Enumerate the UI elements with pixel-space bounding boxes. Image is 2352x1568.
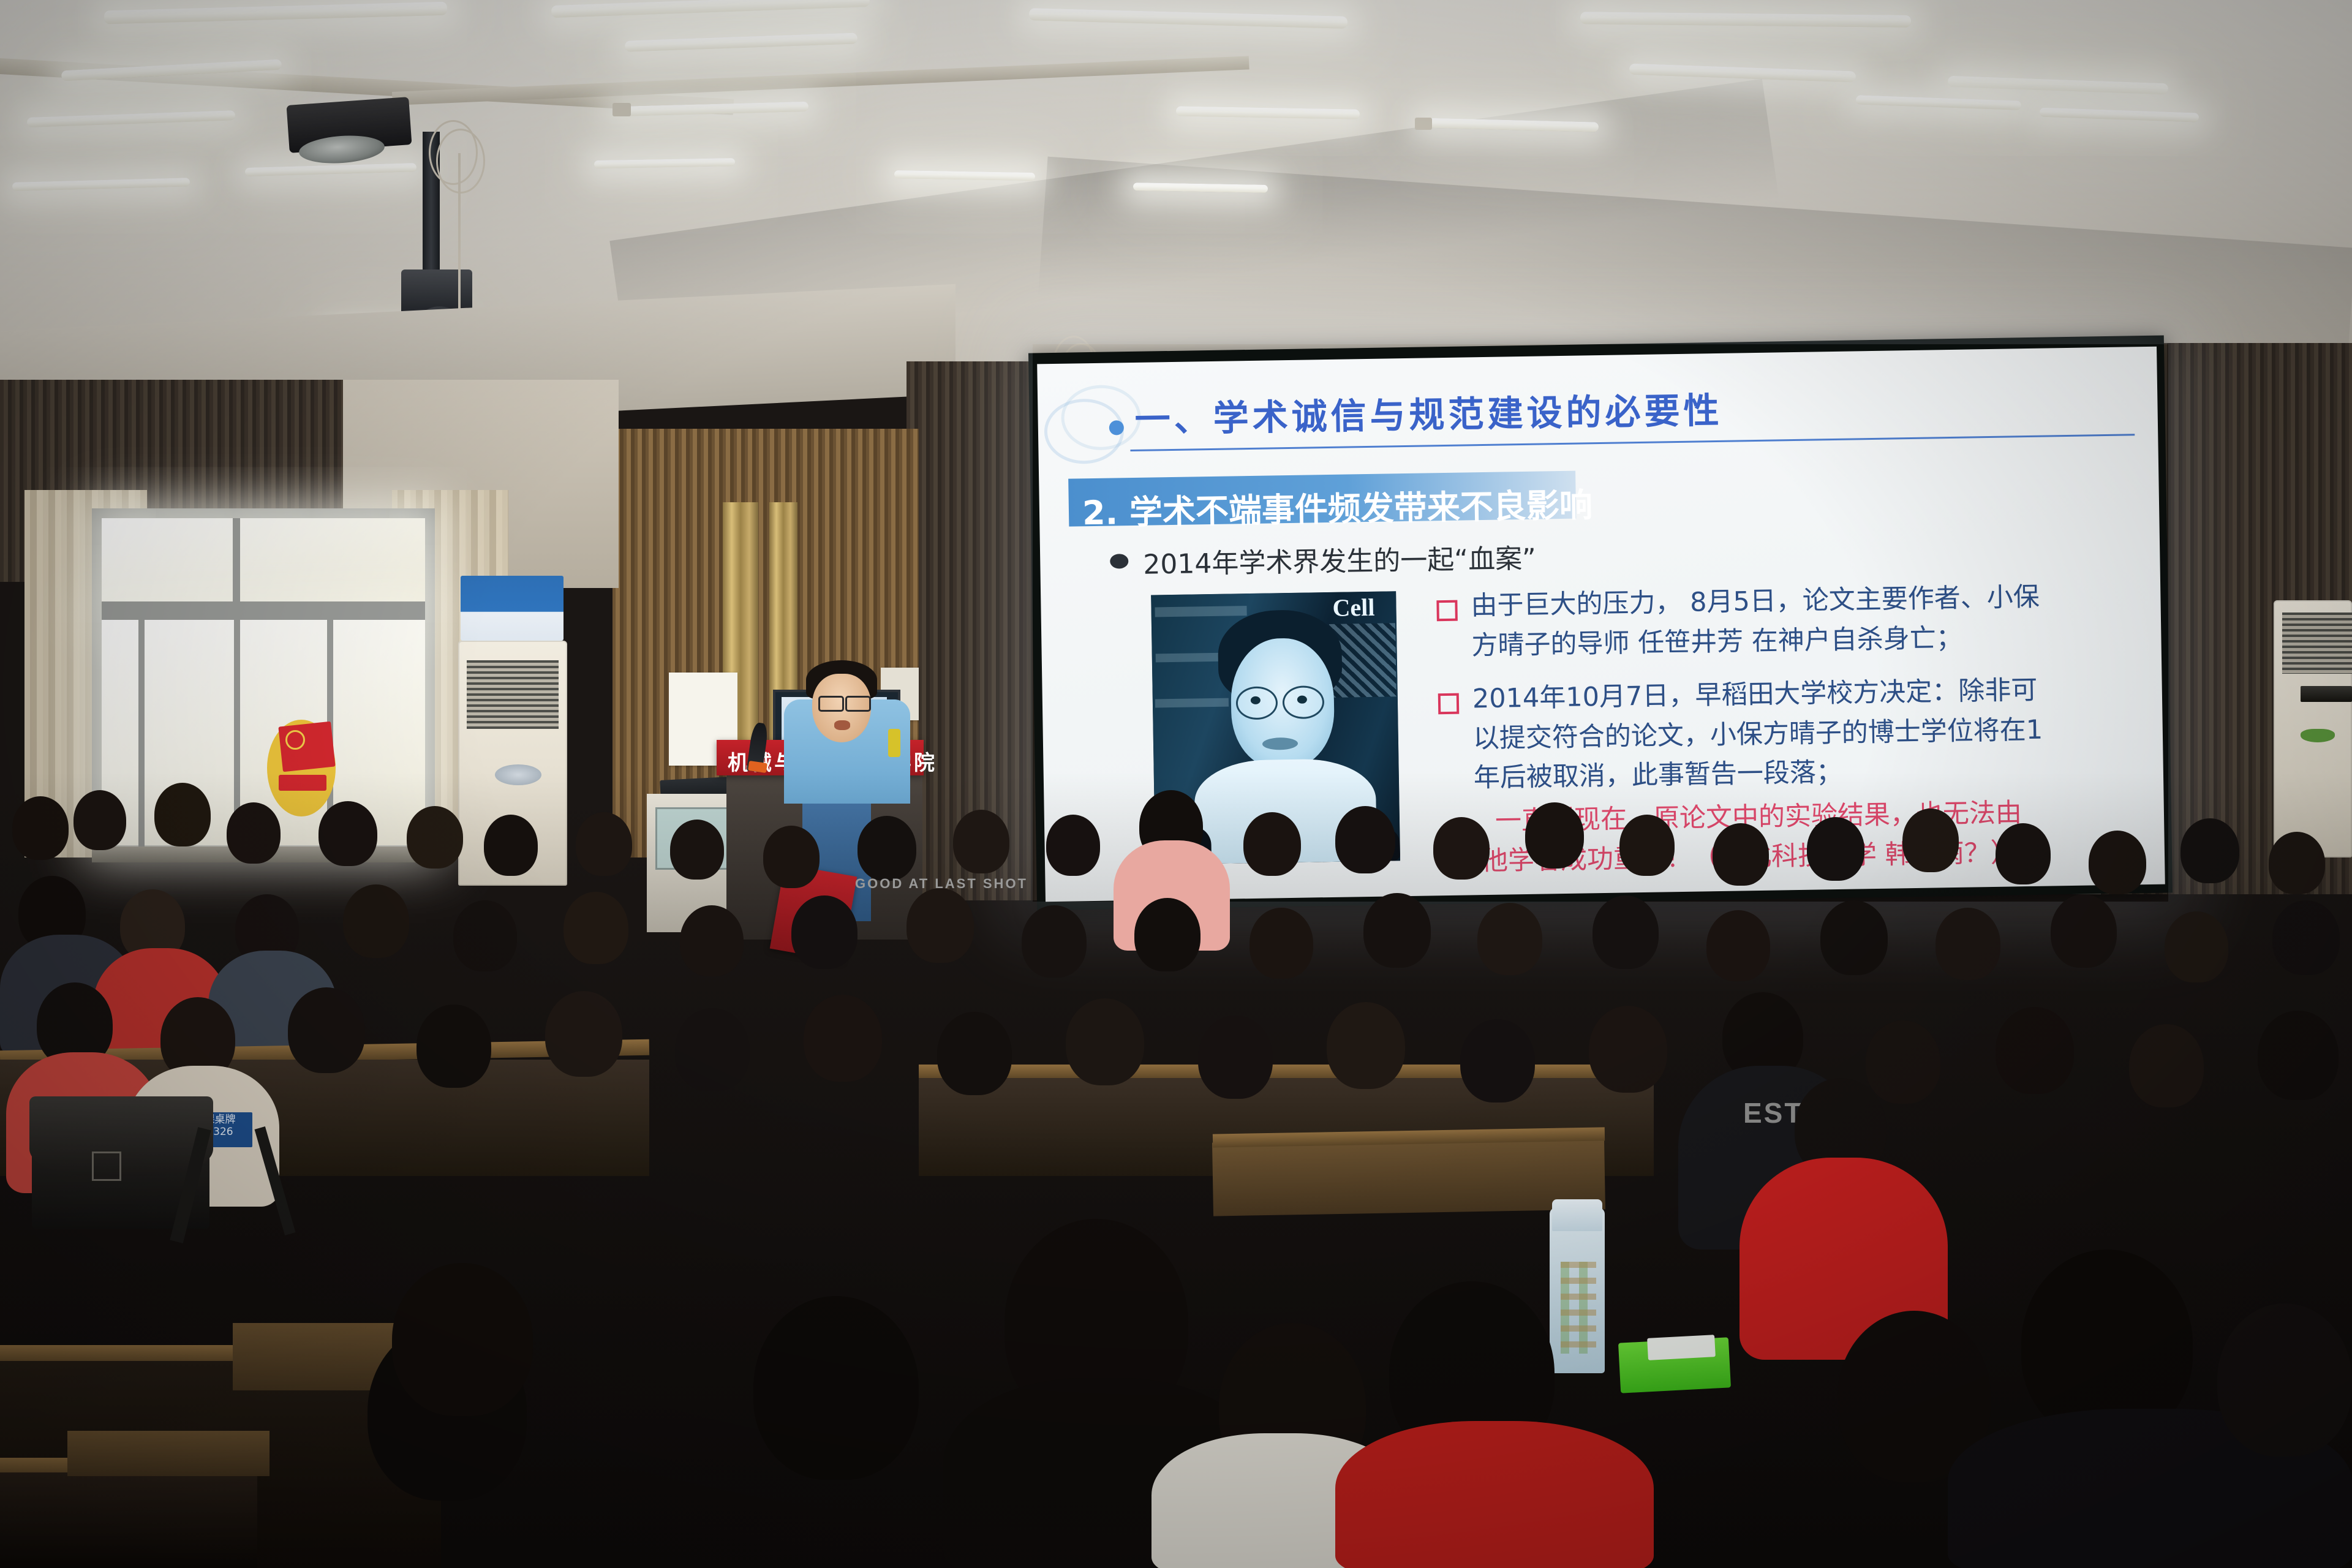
audience-head (1046, 815, 1100, 876)
bag-logo (92, 1151, 121, 1181)
audience-head (1902, 809, 1959, 872)
audience-head (953, 810, 1009, 873)
audience-head (484, 815, 538, 876)
audience-head (1807, 817, 1864, 881)
photo-shelf (1155, 698, 1229, 708)
photo-shelf (1155, 606, 1246, 617)
audience-head (73, 790, 126, 850)
audience-head (1363, 893, 1431, 968)
bag-flap (29, 1096, 213, 1176)
red-square-marker (1438, 693, 1460, 715)
audience-head-foreground (2217, 1303, 2352, 1457)
window-pane (102, 518, 425, 604)
audience-head (288, 987, 365, 1073)
audience-head (2129, 1024, 2204, 1107)
audience-head (675, 1008, 750, 1091)
emblem-star-icon (285, 730, 305, 750)
lecture-hall-photo: 一、学术诚信与规范建设的必要性 2. 学术不端事件频发带来不良影响 2014年学… (0, 0, 2352, 1568)
slide-bullet-text: 2014年学术界发生的一起“血案” (1143, 537, 1537, 582)
audience-head (1327, 1002, 1405, 1089)
audience-head (1243, 812, 1301, 876)
desk (0, 1472, 257, 1568)
speaker-glasses (818, 696, 844, 712)
audience-head (1713, 823, 1769, 886)
audience-head (670, 820, 724, 880)
audience-head (1996, 823, 2051, 884)
audience-head (804, 995, 882, 1082)
tube-mount (612, 103, 631, 116)
audience-head (1249, 908, 1313, 979)
photo-logo-text: Cell (1332, 593, 1375, 622)
audience-head (1022, 905, 1087, 978)
audience-head (2258, 1011, 2339, 1100)
speaker-mouth (834, 720, 850, 730)
window-transom (102, 601, 425, 620)
audience-head (154, 783, 211, 846)
audience-head (763, 826, 820, 888)
cardboard-box (461, 576, 563, 641)
audience-head (907, 888, 974, 963)
audience-head (937, 1012, 1012, 1095)
slide-decoration-ring (1061, 385, 1142, 451)
audience-head (2269, 832, 2325, 894)
audience-head-foreground (392, 1263, 533, 1416)
tissue-paper (1647, 1335, 1716, 1360)
speaker-badge (888, 729, 900, 757)
audience-body-red-foreground (1335, 1421, 1654, 1568)
audience-head (2089, 831, 2146, 894)
audience-head (1066, 998, 1144, 1085)
slide-point-1: 由于巨大的压力， 8月5日，论文主要作者、小保 方晴子的导师 任笹井芳 在神户自… (1471, 576, 2133, 665)
audience-head (1477, 903, 1542, 975)
audience-head (1866, 1020, 1940, 1104)
desk-top-wood (1212, 1136, 1605, 1216)
audience-head (1589, 1006, 1667, 1093)
audience-head (2051, 894, 2117, 968)
cable-coil (436, 129, 485, 194)
audience-head (2272, 900, 2340, 975)
audience-head (12, 796, 69, 860)
thermos-cap (1552, 1199, 1602, 1231)
audience-head (2165, 911, 2228, 982)
audience-head (2180, 818, 2239, 883)
audience-head (1134, 898, 1200, 971)
slide-section-label: 2. 学术不端事件频发带来不良影响 (1082, 478, 1593, 534)
audience-head (680, 905, 744, 976)
audience-head (1820, 900, 1888, 975)
ac-grill (467, 660, 559, 729)
desk-top-wood (67, 1431, 269, 1476)
audience-head (1936, 908, 2000, 980)
jacket-text-good-at-last-shot: GOOD AT LAST SHOT (855, 876, 1028, 892)
audience-head (1706, 910, 1770, 981)
audience-head (1619, 815, 1675, 876)
audience-head (417, 1005, 491, 1088)
ac-grill (2282, 612, 2352, 674)
audience-head (791, 895, 858, 969)
ac-logo (2301, 729, 2335, 742)
ac-vent (2301, 686, 2352, 702)
audience-head (1198, 1016, 1273, 1099)
audience-head (453, 900, 517, 971)
red-square-marker (1436, 600, 1458, 622)
emblem-flag (278, 722, 335, 772)
audience-head (1525, 802, 1584, 869)
slide-title: 一、学术诚信与规范建设的必要性 (1134, 382, 1723, 442)
audience-head (1460, 1019, 1535, 1102)
audience-head (545, 991, 622, 1077)
audience-head-foreground (753, 1296, 919, 1480)
audience-head (1433, 817, 1490, 880)
desk-edge (919, 1065, 1654, 1079)
thermos-pattern (1561, 1262, 1596, 1354)
audience-head (227, 802, 281, 864)
audience-head (407, 806, 463, 869)
audience-head (576, 812, 632, 876)
audience-head (858, 816, 916, 881)
window-mullion (233, 518, 240, 606)
tube-mount (1415, 118, 1432, 130)
bullet-marker (1110, 554, 1128, 568)
audience-head (343, 884, 409, 958)
audience-head (1996, 1007, 2074, 1094)
audience-head (1593, 895, 1659, 969)
speaker-glasses (845, 696, 871, 712)
audience-head (1335, 806, 1395, 873)
audience-head (563, 892, 628, 964)
audience-head (318, 801, 377, 866)
